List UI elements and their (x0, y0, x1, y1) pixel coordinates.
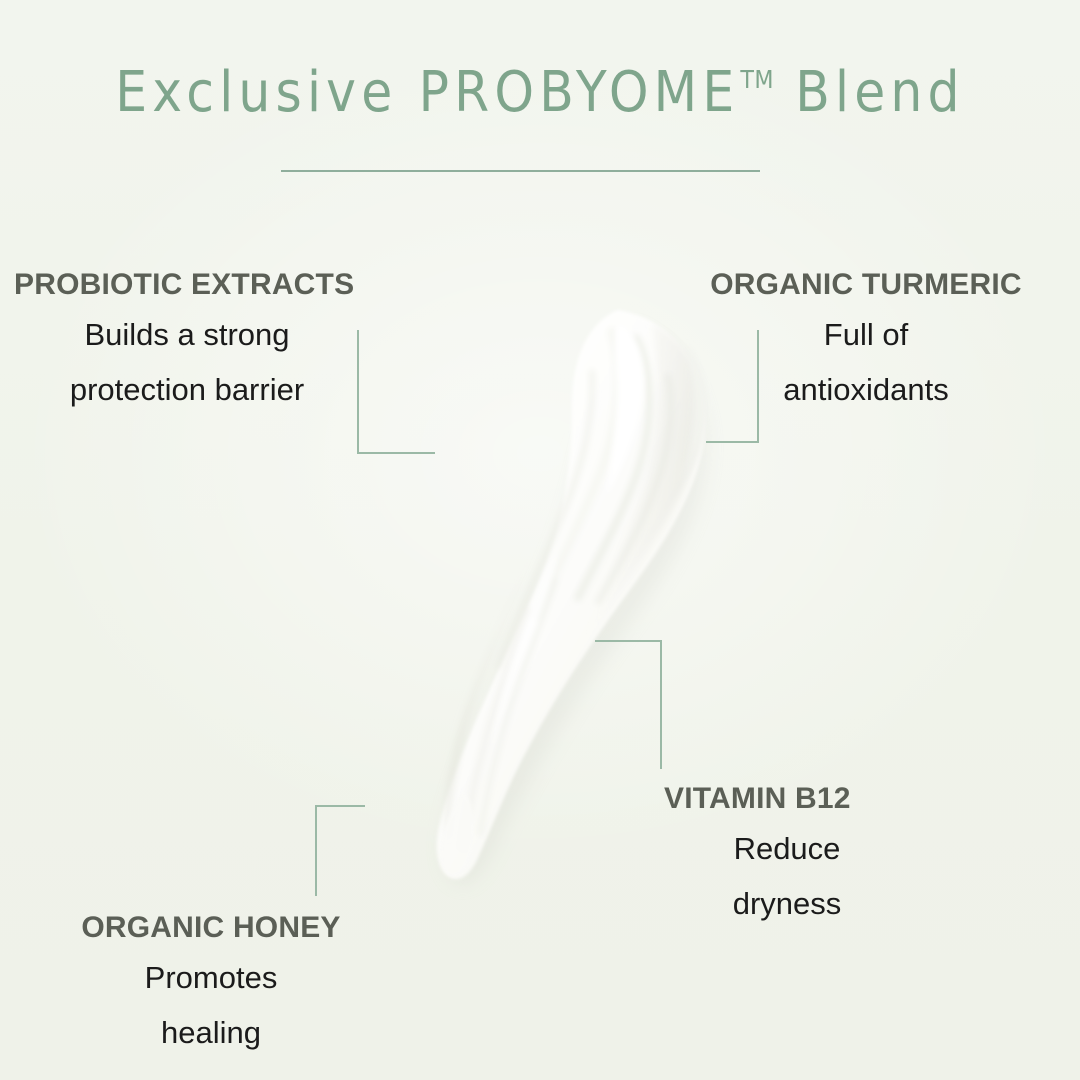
callout-vitamin-description-line2: dryness (733, 886, 842, 921)
callout-honey-description-line1: Promotes (145, 960, 278, 995)
connector-vitamin-vertical (660, 640, 662, 769)
callout-probiotic-description: Builds a strong protection barrier (14, 307, 394, 417)
page-title: Exclusive PROBYOMETM Blend (0, 64, 1080, 123)
callout-turmeric-heading: ORGANIC TURMERIC (680, 268, 1052, 303)
connector-vitamin-horizontal (595, 640, 662, 642)
callout-turmeric-description-line2: antioxidants (783, 372, 948, 407)
callout-organic-honey: ORGANIC HONEY Promotes healing (36, 911, 386, 1060)
callout-turmeric-description-line1: Full of (824, 317, 908, 352)
callout-vitamin-description-line1: Reduce (734, 831, 841, 866)
callout-probiotic-description-line1: Builds a strong (84, 317, 289, 352)
product-ingredient-infographic: Exclusive PROBYOMETM Blend (0, 0, 1080, 1080)
connector-probiotic-horizontal (357, 452, 435, 454)
page-title-prefix: Exclusive PROBYOME (115, 60, 739, 125)
callout-honey-description-line2: healing (161, 1015, 261, 1050)
callout-honey-heading: ORGANIC HONEY (36, 911, 386, 946)
trademark-symbol: TM (740, 65, 774, 94)
callout-honey-description: Promotes healing (36, 950, 386, 1060)
connector-honey-vertical (315, 805, 317, 896)
callout-organic-turmeric: ORGANIC TURMERIC Full of antioxidants (680, 268, 1052, 417)
connector-turmeric-horizontal (706, 441, 759, 443)
connector-honey-horizontal (315, 805, 365, 807)
callout-probiotic-heading: PROBIOTIC EXTRACTS (14, 268, 394, 303)
callout-turmeric-description: Full of antioxidants (680, 307, 1052, 417)
callout-vitamin-description: Reduce dryness (664, 821, 964, 931)
title-divider (281, 170, 760, 172)
callout-probiotic-description-line2: protection barrier (70, 372, 304, 407)
callout-vitamin-heading: VITAMIN B12 (664, 782, 964, 817)
callout-probiotic-extracts: PROBIOTIC EXTRACTS Builds a strong prote… (14, 268, 394, 417)
page-title-suffix: Blend (774, 60, 965, 125)
callout-vitamin-b12: VITAMIN B12 Reduce dryness (664, 782, 964, 931)
